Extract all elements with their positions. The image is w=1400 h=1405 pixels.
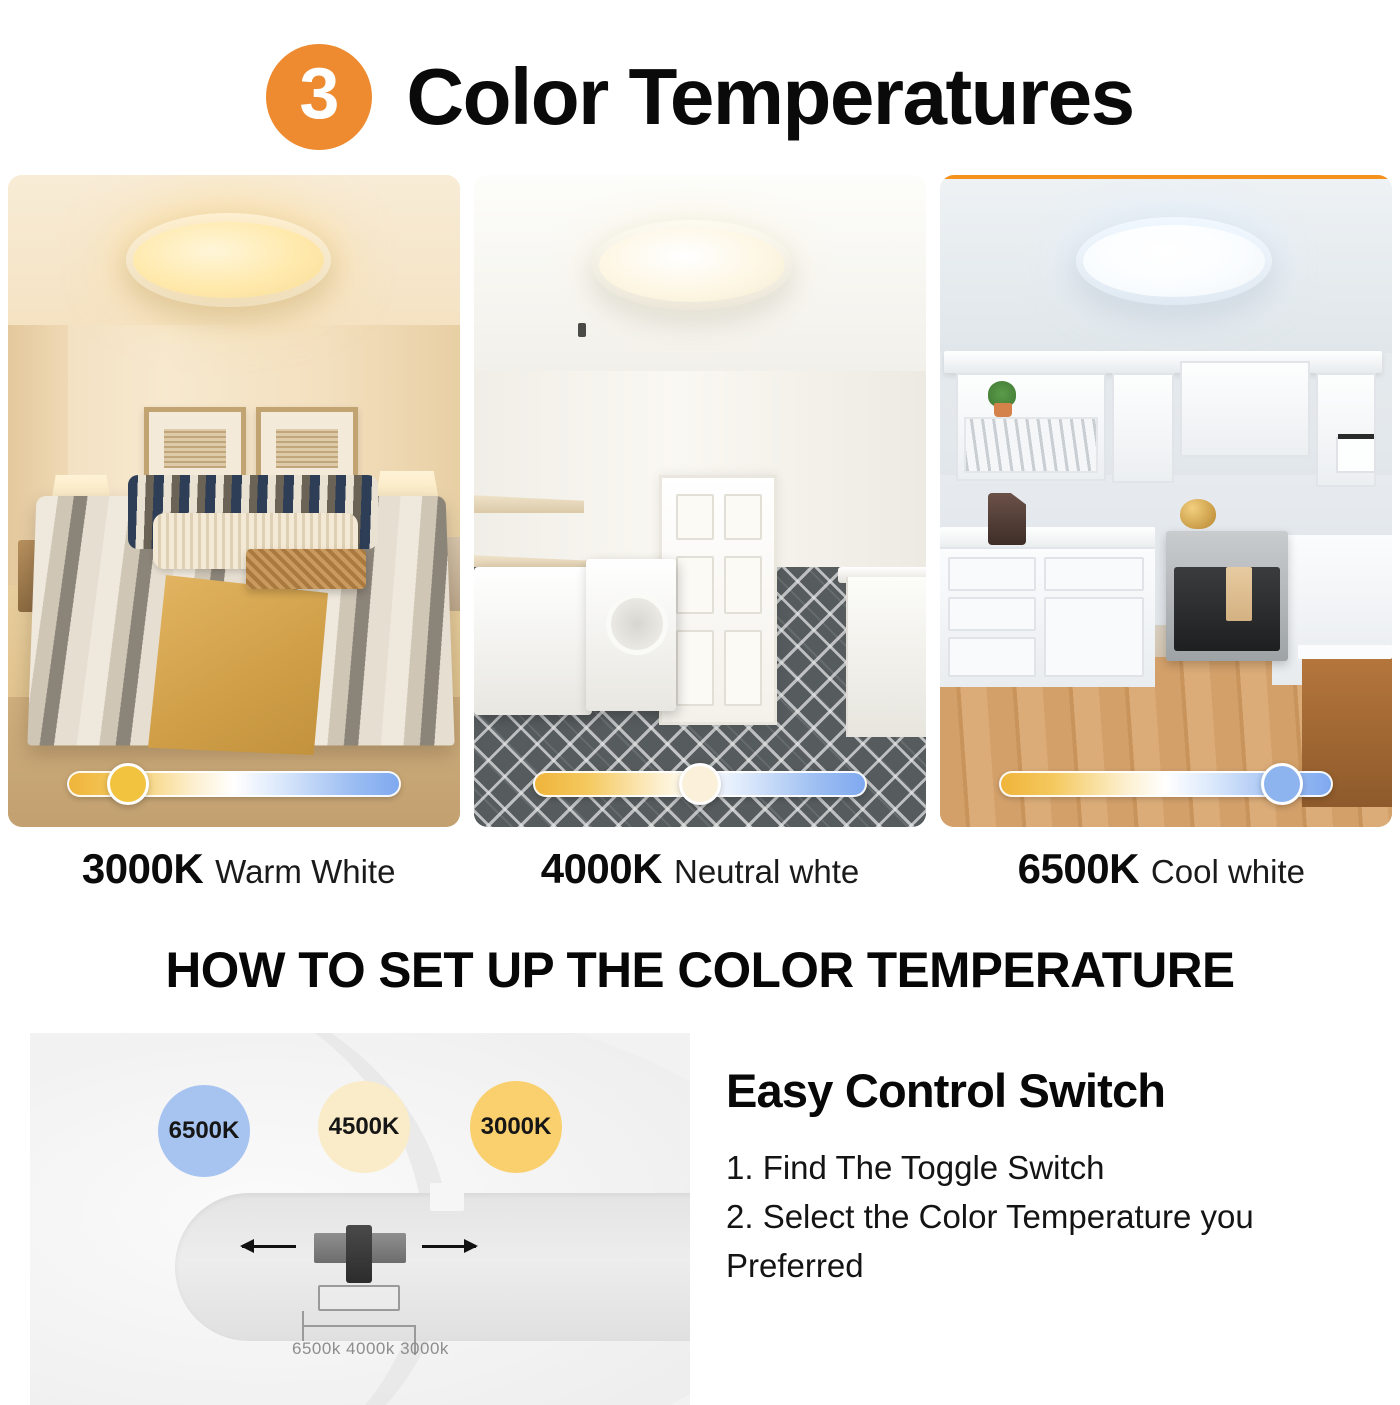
fixture-recess-channel	[175, 1193, 690, 1341]
caption-kitchen: 6500K Cool white	[931, 845, 1392, 893]
switch-scale-labels: 6500k 4000k 3000k	[292, 1339, 432, 1359]
dryer-door	[606, 593, 668, 655]
left-arrow-icon	[242, 1245, 296, 1248]
door-panel	[676, 556, 714, 614]
kitchen-photo	[940, 175, 1392, 827]
door-panel	[724, 556, 762, 614]
scene-card-bedroom	[8, 175, 460, 827]
cabinet-door	[1044, 597, 1144, 677]
door-panel	[724, 494, 762, 540]
ceiling-light-fixture	[592, 220, 792, 310]
cabinet-drawer	[948, 637, 1036, 677]
page-title: Color Temperatures	[406, 51, 1133, 143]
ceiling-light-fixture	[1076, 217, 1272, 305]
door-panel	[676, 630, 714, 706]
kelvin-value: 6500K	[1018, 845, 1139, 893]
count-badge-number: 3	[299, 58, 339, 130]
kelvin-value: 4000K	[541, 845, 662, 893]
plate-rack-cabinet	[956, 373, 1106, 481]
cabinet-drawer	[1044, 557, 1144, 591]
slider-track[interactable]	[999, 771, 1333, 797]
slider-knob[interactable]	[1261, 763, 1303, 805]
badge-label: 3000K	[481, 1113, 552, 1141]
temperature-slider-laundry-room[interactable]	[474, 771, 926, 797]
light-panel-glow	[133, 222, 324, 298]
washing-machine	[474, 567, 592, 715]
caption-laundry-room: 4000K Neutral whte	[469, 845, 930, 893]
door-panel	[724, 630, 762, 706]
wicker-tray	[246, 549, 366, 589]
slider-knob[interactable]	[107, 763, 149, 805]
accent-rule	[940, 175, 1392, 179]
badge-label: 6500K	[169, 1117, 240, 1145]
light-panel-glow	[599, 228, 785, 302]
door-panel	[676, 494, 714, 540]
toggle-switch-lever[interactable]	[346, 1225, 372, 1283]
laundry-room-photo	[474, 175, 926, 827]
switch-scale-legs	[302, 1311, 416, 1341]
crown-molding	[944, 351, 1382, 373]
instructions-column: Easy Control Switch 1. Find The Toggle S…	[726, 1033, 1370, 1405]
instructions-title: Easy Control Switch	[726, 1063, 1370, 1118]
caption-bedroom: 3000K Warm White	[8, 845, 469, 893]
scene-gallery	[0, 175, 1400, 827]
plant-pot	[994, 403, 1012, 417]
cabinet-drawer	[948, 557, 1036, 591]
instruction-step: 2. Select the Color Temperature you Pref…	[726, 1193, 1370, 1291]
cabinet-drawer	[948, 597, 1036, 631]
kelvin-name: Cool white	[1151, 853, 1305, 891]
kitchen-towel	[1226, 567, 1252, 621]
scene-card-kitchen	[940, 175, 1392, 827]
scene-captions: 3000K Warm White 4000K Neutral whte 6500…	[0, 827, 1400, 893]
page-header: 3 Color Temperatures	[0, 0, 1400, 175]
temperature-badge-4500k: 4500K	[318, 1081, 410, 1173]
slider-track[interactable]	[533, 771, 867, 797]
count-badge: 3	[266, 44, 372, 150]
interior-door	[659, 475, 777, 725]
countertop	[940, 527, 1155, 549]
section-heading: HOW TO SET UP THE COLOR TEMPERATURE	[7, 941, 1393, 999]
instruction-steps: 1. Find The Toggle Switch 2. Select the …	[726, 1144, 1370, 1290]
stand-mixer	[988, 493, 1026, 545]
range-hood	[1180, 361, 1310, 457]
tea-kettle	[1180, 499, 1216, 529]
kelvin-value: 3000K	[82, 845, 203, 893]
wall-cabinet	[1112, 373, 1174, 483]
temperature-slider-bedroom[interactable]	[8, 771, 460, 797]
slider-track[interactable]	[67, 771, 401, 797]
switch-closeup-photo: 6500k 4000k 3000k 6500K 4500K 3000K	[30, 1033, 690, 1405]
switch-scale-bracket	[318, 1285, 400, 1311]
setup-section: 6500k 4000k 3000k 6500K 4500K 3000K Easy…	[0, 1033, 1400, 1405]
ceiling-light-fixture	[126, 213, 331, 307]
gold-throw-blanket	[148, 575, 328, 755]
right-arrow-icon	[422, 1245, 476, 1248]
temperature-badge-3000k: 3000K	[470, 1081, 562, 1173]
housing-notch	[430, 1183, 464, 1211]
door-hardware	[578, 323, 586, 337]
wall-sign	[1336, 437, 1376, 473]
light-panel-glow	[1083, 225, 1265, 297]
slider-knob[interactable]	[679, 763, 721, 805]
temperature-slider-kitchen[interactable]	[940, 771, 1392, 797]
temperature-badge-6500k: 6500K	[158, 1085, 250, 1177]
base-cabinet	[846, 577, 926, 737]
bedroom-photo	[8, 175, 460, 827]
instruction-step: 1. Find The Toggle Switch	[726, 1144, 1370, 1193]
badge-label: 4500K	[329, 1113, 400, 1141]
kelvin-name: Warm White	[215, 853, 395, 891]
scene-card-laundry-room	[474, 175, 926, 827]
kelvin-name: Neutral whte	[674, 853, 859, 891]
